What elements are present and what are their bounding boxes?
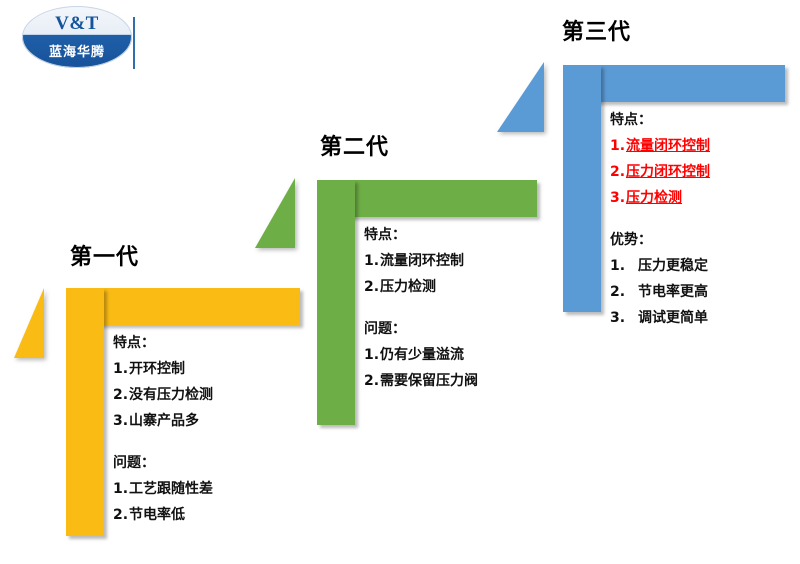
list-number: 1.: [364, 248, 380, 274]
section-spacer: [364, 300, 478, 316]
slide-canvas: V&T 蓝海华腾 第一代 特点： 1.开环控制 2.没有压力检测 3.山寨产品多…: [0, 0, 800, 564]
list-text: 调试更简单: [638, 310, 708, 326]
list-text: 压力检测: [626, 190, 682, 206]
gen3-arrow-triangle: [497, 62, 544, 132]
gen3-section1-heading: 特点：: [610, 107, 710, 133]
gen2-section2-heading: 问题：: [364, 316, 478, 342]
gen3-bar-vertical: [563, 65, 601, 312]
gen1-section2-item-1: 1.工艺跟随性差: [113, 476, 213, 502]
section-spacer: [610, 211, 710, 227]
gen3-section2-item-1: 1.压力更稳定: [610, 253, 710, 279]
header-divider-line: [133, 17, 135, 69]
gen1-section2-item-2: 2.节电率低: [113, 502, 213, 528]
gen3-section1-item-3: 3.压力检测: [610, 185, 710, 211]
gen3-section2-item-3: 3.调试更简单: [610, 305, 710, 331]
list-number: 2.: [113, 502, 129, 528]
list-number: 2.: [364, 368, 380, 394]
list-text: 工艺跟随性差: [129, 481, 213, 497]
gen2-text-block: 特点： 1.流量闭环控制 2.压力检测 问题： 1.仍有少量溢流 2.需要保留压…: [364, 222, 478, 394]
list-text: 需要保留压力阀: [380, 373, 478, 389]
list-text: 节电率低: [129, 507, 185, 523]
logo-oval-shape: V&T 蓝海华腾: [22, 6, 132, 68]
gen3-title: 第三代: [562, 14, 631, 46]
gen3-text-block: 特点： 1.流量闭环控制 2.压力闭环控制 3.压力检测 优势： 1.压力更稳定…: [610, 107, 710, 331]
list-number: 1.: [364, 342, 380, 368]
gen1-section1-item-2: 2.没有压力检测: [113, 382, 213, 408]
list-number: 1.: [610, 253, 638, 279]
list-number: 2.: [610, 279, 638, 305]
gen1-bar-vertical: [66, 288, 104, 536]
gen1-title: 第一代: [70, 239, 139, 271]
gen2-section2-item-1: 1.仍有少量溢流: [364, 342, 478, 368]
list-number: 2.: [610, 159, 626, 185]
list-text: 压力检测: [380, 279, 436, 295]
list-number: 2.: [364, 274, 380, 300]
gen1-section1-item-3: 3.山寨产品多: [113, 408, 213, 434]
list-number: 1.: [113, 356, 129, 382]
gen2-section2-item-2: 2.需要保留压力阀: [364, 368, 478, 394]
gen1-section1-item-1: 1.开环控制: [113, 356, 213, 382]
gen1-text-block: 特点： 1.开环控制 2.没有压力检测 3.山寨产品多 问题： 1.工艺跟随性差…: [113, 330, 213, 528]
gen1-section2-heading: 问题：: [113, 450, 213, 476]
list-number: 3.: [610, 305, 638, 331]
gen2-title: 第二代: [320, 129, 389, 161]
gen2-section1-heading: 特点：: [364, 222, 478, 248]
list-number: 1.: [610, 133, 626, 159]
list-text: 压力更稳定: [638, 258, 708, 274]
gen1-section1-heading: 特点：: [113, 330, 213, 356]
gen3-section2-heading: 优势：: [610, 227, 710, 253]
list-text: 流量闭环控制: [380, 253, 464, 269]
gen3-section2-item-2: 2.节电率更高: [610, 279, 710, 305]
section-spacer: [113, 434, 213, 450]
list-number: 1.: [113, 476, 129, 502]
gen2-section1-item-2: 2.压力检测: [364, 274, 478, 300]
gen3-section1-item-2: 2.压力闭环控制: [610, 159, 710, 185]
gen3-section1-item-1: 1.流量闭环控制: [610, 133, 710, 159]
list-text: 压力闭环控制: [626, 164, 710, 180]
list-number: 3.: [113, 408, 129, 434]
logo-brand-text: V&T: [22, 13, 132, 35]
gen1-arrow-triangle: [14, 288, 44, 358]
list-number: 3.: [610, 185, 626, 211]
list-text: 开环控制: [129, 361, 185, 377]
gen2-bar-vertical: [317, 180, 355, 425]
list-text: 山寨产品多: [129, 413, 199, 429]
list-text: 仍有少量溢流: [380, 347, 464, 363]
list-text: 节电率更高: [638, 284, 708, 300]
company-logo: V&T 蓝海华腾: [22, 6, 132, 70]
gen2-arrow-triangle: [255, 178, 295, 248]
list-number: 2.: [113, 382, 129, 408]
gen2-section1-item-1: 1.流量闭环控制: [364, 248, 478, 274]
list-text: 流量闭环控制: [626, 138, 710, 154]
logo-chinese-name: 蓝海华腾: [22, 41, 132, 60]
list-text: 没有压力检测: [129, 387, 213, 403]
